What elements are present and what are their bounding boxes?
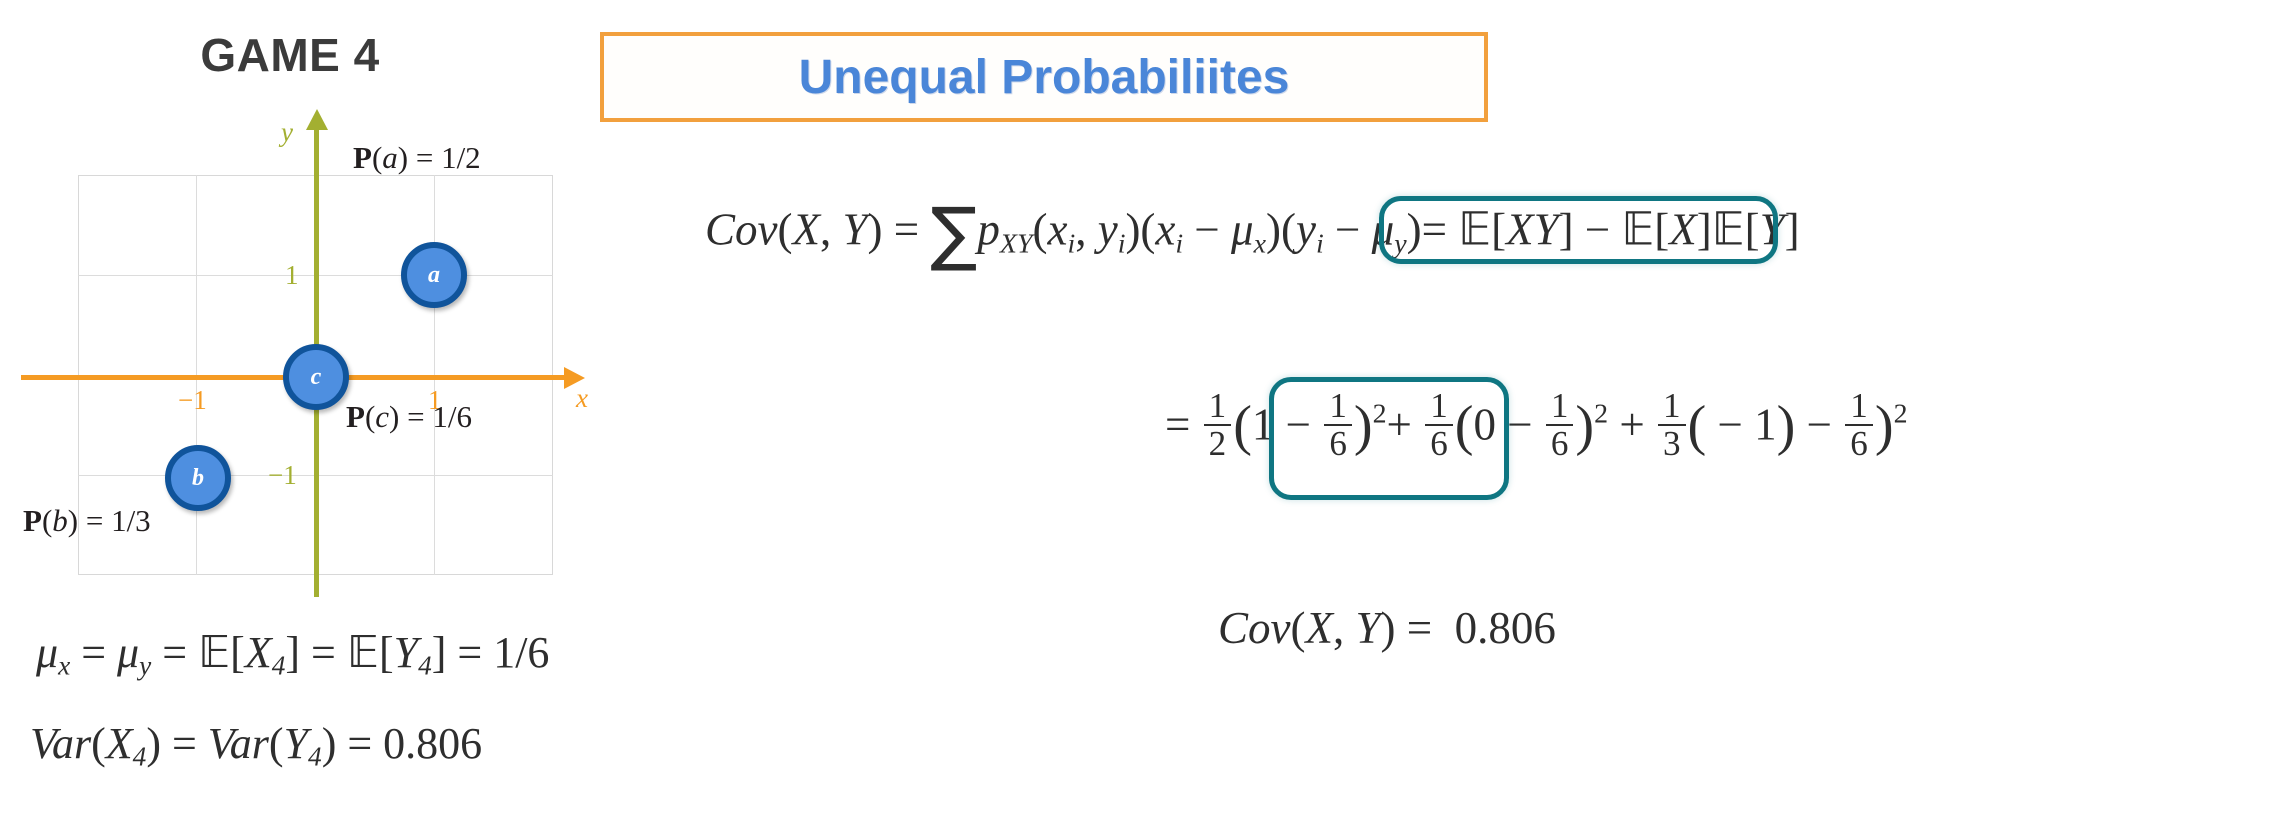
data-point-a-label: a: [428, 262, 440, 289]
data-point-b[interactable]: b: [165, 445, 231, 511]
y-axis-label: y: [281, 117, 293, 148]
x-tick-minus-1: −1: [178, 385, 207, 416]
prob-label-c: P(c) = 1/6: [346, 399, 472, 435]
data-point-c-label: c: [311, 364, 322, 391]
equation-cov-result: Cov(X, Y) = 0.806: [1218, 602, 1556, 654]
page-title: GAME 4: [160, 28, 420, 82]
probability-scatter-plot: x y −1 1 1 −1 a c b P(a) = 1/2 P(c) = 1/…: [78, 175, 553, 575]
prob-label-b: P(b) = 1/3: [23, 503, 151, 539]
equation-variance: Var(X4) = Var(Y4) = 0.806: [30, 718, 482, 773]
prob-label-a: P(a) = 1/2: [353, 140, 481, 176]
highlight-box-first-term: [1269, 377, 1509, 500]
highlight-box-deviation-product: [1379, 196, 1778, 264]
banner-title: Unequal Probabiliites: [799, 50, 1290, 105]
y-tick-minus-1: −1: [268, 460, 297, 491]
y-axis-arrow-icon: [306, 109, 328, 130]
mean-value: 1/6: [493, 628, 549, 677]
variance-value: 0.806: [383, 719, 482, 768]
cov-result-value: 0.806: [1455, 603, 1556, 653]
x-axis-label: x: [576, 383, 588, 414]
data-point-a[interactable]: a: [401, 242, 467, 308]
section-banner: Unequal Probabiliites: [600, 32, 1488, 122]
data-point-c[interactable]: c: [283, 344, 349, 410]
equation-means: μx = μy = 𝔼[X4] = 𝔼[Y4] = 1/6: [36, 627, 549, 682]
y-tick-1: 1: [285, 260, 299, 291]
data-point-b-label: b: [192, 465, 204, 492]
